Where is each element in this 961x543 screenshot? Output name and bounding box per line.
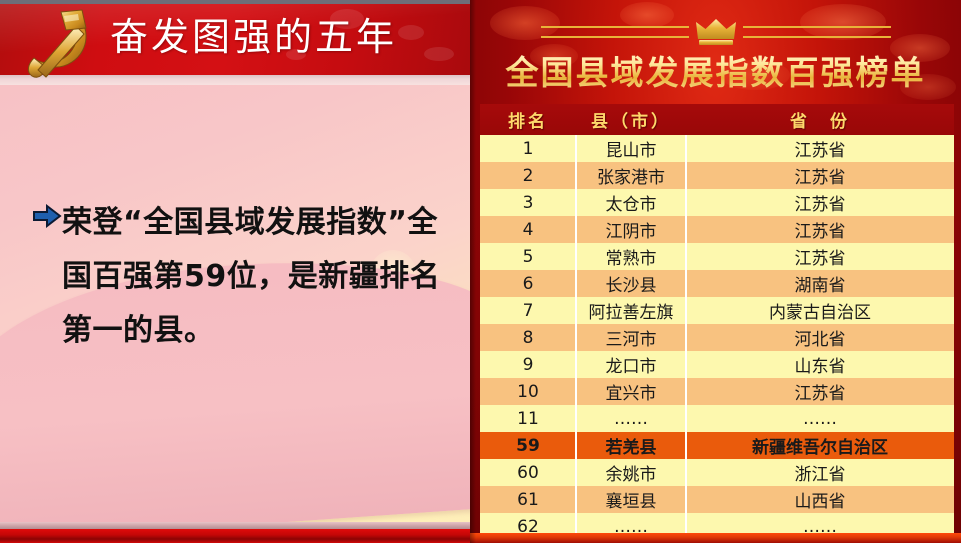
crown-line-right [743,26,891,38]
panel-left-edge [470,0,476,543]
cell-province: 河北省 [686,324,954,351]
table-row: 4江阴市江苏省 [480,216,954,243]
cell-county: 余姚市 [576,459,686,486]
ranking-table: 排名 县（市） 省 份 1昆山市江苏省2张家港市江苏省3太仓市江苏省4江阴市江苏… [479,104,955,540]
cell-county: 长沙县 [576,270,686,297]
table-header-row: 排名 县（市） 省 份 [480,104,954,135]
cell-rank: 59 [480,432,576,459]
cell-county: …… [576,405,686,432]
table-row: 60余姚市浙江省 [480,459,954,486]
table-row: 2张家港市江苏省 [480,162,954,189]
cell-county: 张家港市 [576,162,686,189]
cell-rank: 11 [480,405,576,432]
cell-province: 内蒙古自治区 [686,297,954,324]
cell-rank: 7 [480,297,576,324]
cell-county: 龙口市 [576,351,686,378]
cell-rank: 3 [480,189,576,216]
cell-rank: 2 [480,162,576,189]
cell-county: 宜兴市 [576,378,686,405]
table-row: 6长沙县湖南省 [480,270,954,297]
table-row: 8三河市河北省 [480,324,954,351]
cell-rank: 1 [480,135,576,162]
footer-bar [0,529,470,543]
table-row: 7阿拉善左旗内蒙古自治区 [480,297,954,324]
ranking-panel-footer [470,533,961,543]
table-row: 61襄垣县山西省 [480,486,954,513]
column-header-county: 县（市） [576,104,686,135]
cell-county: 昆山市 [576,135,686,162]
page-title: 奋发图强的五年 [110,8,450,66]
ranking-title: 全国县域发展指数百强榜单 [470,46,961,94]
left-content-panel: 奋发图强的五年 荣登“全国县域发展指数”全国百强第59位，是新疆排名第一的县。 [0,0,470,543]
table-row-highlighted: 59若羌县新疆维吾尔自治区 [480,432,954,459]
cell-rank: 6 [480,270,576,297]
cell-province: 山东省 [686,351,954,378]
arrow-bullet-icon [32,204,62,228]
cell-province: …… [686,405,954,432]
cell-county: 三河市 [576,324,686,351]
cell-province: 江苏省 [686,216,954,243]
table-row: 1昆山市江苏省 [480,135,954,162]
slide: 奋发图强的五年 荣登“全国县域发展指数”全国百强第59位，是新疆排名第一的县。 [0,0,961,543]
cell-county: 常熟市 [576,243,686,270]
ranking-panel: 全国县域发展指数百强榜单 全国县域发展指数百强榜单 排名 县（市） 省 份 1昆… [470,0,961,543]
cell-county: 江阴市 [576,216,686,243]
cell-rank: 61 [480,486,576,513]
crown-decoration [470,17,961,47]
cell-rank: 10 [480,378,576,405]
crown-line-left [541,26,689,38]
table-row: 9龙口市山东省 [480,351,954,378]
cell-province: 江苏省 [686,135,954,162]
cell-province: 江苏省 [686,243,954,270]
cell-rank: 8 [480,324,576,351]
cell-province: 山西省 [686,486,954,513]
background-bokeh [240,380,294,434]
party-emblem-icon [14,4,106,86]
cell-province: 江苏省 [686,189,954,216]
cell-rank: 5 [480,243,576,270]
cell-province: 湖南省 [686,270,954,297]
cell-county: 太仓市 [576,189,686,216]
cell-province: 江苏省 [686,162,954,189]
cell-rank: 4 [480,216,576,243]
cell-county: 若羌县 [576,432,686,459]
cell-province: 江苏省 [686,378,954,405]
cell-rank: 9 [480,351,576,378]
cell-province: 新疆维吾尔自治区 [686,432,954,459]
table-row: 11………… [480,405,954,432]
cell-province: 浙江省 [686,459,954,486]
cell-county: 襄垣县 [576,486,686,513]
cell-rank: 60 [480,459,576,486]
table-row: 5常熟市江苏省 [480,243,954,270]
table-body: 1昆山市江苏省2张家港市江苏省3太仓市江苏省4江阴市江苏省5常熟市江苏省6长沙县… [480,135,954,540]
column-header-province: 省 份 [686,104,954,135]
body-paragraph: 荣登“全国县域发展指数”全国百强第59位，是新疆排名第一的县。 [62,196,447,358]
table-row: 3太仓市江苏省 [480,189,954,216]
cell-county: 阿拉善左旗 [576,297,686,324]
ranking-title-area: 全国县域发展指数百强榜单 全国县域发展指数百强榜单 [470,0,961,104]
crown-icon [695,17,737,47]
column-header-rank: 排名 [480,104,576,135]
table-row: 10宜兴市江苏省 [480,378,954,405]
swoosh-edge [0,522,470,529]
